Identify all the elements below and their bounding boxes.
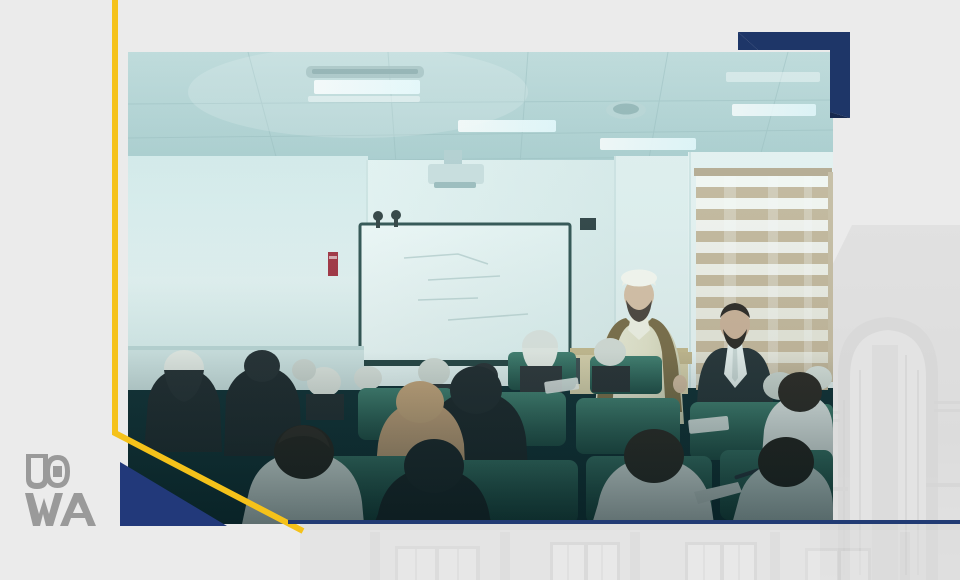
- uowa-logo[interactable]: [24, 452, 108, 528]
- news-card: [0, 0, 960, 580]
- campus-building-watermark-lower: [300, 524, 960, 580]
- classroom-lecture-photograph: [128, 52, 833, 524]
